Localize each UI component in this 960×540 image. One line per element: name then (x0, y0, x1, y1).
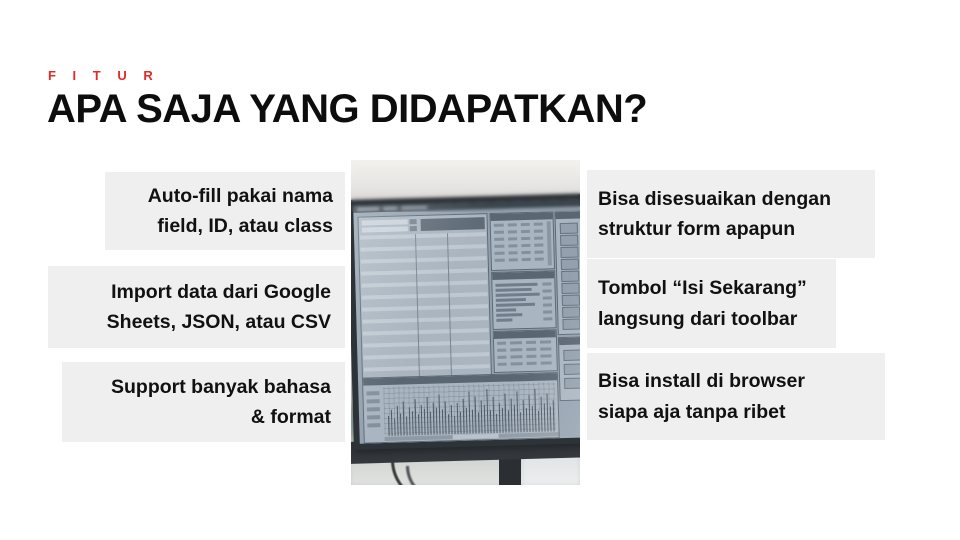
screen-quote-cell (535, 258, 544, 261)
screen-button[interactable] (561, 283, 579, 294)
screen-bar (496, 298, 526, 302)
chart-axis-label (367, 407, 380, 411)
screen-quote-cell (509, 258, 518, 261)
feature-line-1: Auto-fill pakai nama (148, 185, 333, 207)
screen-button[interactable] (560, 235, 578, 246)
feature-text: Tombol “Isi Sekarang” langsung dari tool… (598, 273, 826, 333)
screen-panel-header (490, 212, 552, 221)
screen-quote-cell (494, 238, 504, 241)
monitor-screen (353, 199, 580, 443)
chart-axis-label (367, 399, 380, 403)
screen-panel-header (559, 337, 580, 345)
feature-box-left-3: Support banyak bahasa & format (62, 362, 345, 442)
feature-photo (351, 160, 580, 485)
screen-bar (496, 313, 522, 317)
screen-bar-value (543, 289, 552, 292)
feature-line-1: Tombol “Isi Sekarang” (598, 277, 807, 299)
screen-panel-header (555, 211, 580, 219)
screen-watchlist-cell (540, 354, 551, 357)
screen-dropdown (362, 219, 408, 225)
screen-panel-mini (558, 336, 580, 401)
photo-cable-secondary (406, 466, 509, 485)
screen-quote-cell (509, 251, 518, 254)
screen-panel-header (494, 330, 556, 339)
feature-line-2: struktur form apapun (598, 218, 795, 240)
screen-menu-item (383, 207, 397, 210)
screen-dropdown (362, 226, 408, 232)
chevron-down-icon (410, 219, 417, 224)
screen-button[interactable] (561, 271, 579, 282)
screen-quote-cell (522, 258, 531, 261)
monitor-bezel (351, 193, 580, 450)
screen-quote-cell (521, 230, 530, 233)
screen-bar-value (543, 303, 552, 306)
feature-box-left-1: Auto-fill pakai nama field, ID, atau cla… (105, 172, 345, 250)
screen-watchlist-cell (510, 341, 522, 344)
feature-box-left-2: Import data dari Google Sheets, JSON, at… (48, 266, 345, 348)
screen-scrollbar[interactable] (547, 221, 552, 265)
screen-button[interactable] (562, 295, 580, 306)
screen-panel-quotes (489, 211, 555, 271)
slide-root: F I T U R APA SAJA YANG DIDAPATKAN? Auto… (0, 0, 960, 540)
screen-watchlist-cell (526, 348, 536, 351)
screen-bar (496, 308, 516, 312)
feature-line-1: Support banyak bahasa (111, 376, 331, 398)
screen-watchlist-cell (497, 349, 506, 352)
screen-quote-cell (521, 244, 530, 247)
feature-box-right-3: Bisa install di browser siapa aja tanpa … (587, 353, 885, 440)
feature-line-1: Bisa disesuaikan dengan (598, 188, 831, 210)
screen-button[interactable] (561, 259, 579, 270)
screen-quote-cell (508, 223, 517, 226)
screen-watchlist-cell (526, 355, 536, 358)
screen-bar (495, 283, 537, 287)
feature-line-2: field, ID, atau class (157, 215, 333, 237)
screen-quote-cell (494, 231, 504, 234)
screen-quote-cell (534, 251, 543, 254)
screen-quote-cell (495, 259, 505, 262)
feature-box-right-1: Bisa disesuaikan dengan struktur form ap… (587, 170, 875, 258)
screen-quote-cell (494, 224, 504, 227)
feature-line-1: Import data dari Google (111, 281, 331, 303)
screen-panel-watchlist (493, 329, 558, 373)
screen-menu-item (357, 207, 379, 211)
feature-line-2: siapa aja tanpa ribet (598, 397, 873, 427)
feature-line-1: Bisa install di browser (598, 366, 873, 396)
screen-bar (496, 288, 532, 292)
feature-text: Auto-fill pakai nama field, ID, atau cla… (119, 181, 333, 241)
chevron-down-icon (410, 226, 417, 231)
screen-watchlist-cell (510, 348, 522, 351)
screen-quote-cell (508, 230, 517, 233)
screen-watchlist-cell (540, 340, 551, 343)
eyebrow-label: F I T U R (48, 69, 159, 82)
feature-text: Bisa disesuaikan dengan struktur form ap… (598, 184, 863, 244)
screen-watchlist-cell (510, 355, 522, 358)
screen-quote-cell (521, 223, 530, 226)
screen-panel-chart (362, 372, 560, 443)
screen-quote-cell (508, 244, 517, 247)
screen-watchlist-cell (526, 341, 536, 344)
feature-line-2: langsung dari toolbar (598, 308, 797, 330)
screen-quote-cell (534, 237, 543, 240)
screen-quote-cell (521, 237, 530, 240)
screen-watchlist-cell (527, 362, 537, 365)
screen-panel-header (492, 271, 554, 280)
screen-quote-cell (495, 252, 505, 255)
page-title: APA SAJA YANG DIDAPATKAN? (47, 88, 647, 130)
screen-quote-cell (534, 244, 543, 247)
screen-button[interactable] (564, 364, 580, 375)
screen-bar-value (542, 282, 551, 285)
screen-button[interactable] (563, 350, 580, 361)
chart-axis-label (367, 423, 380, 427)
screen-watchlist-cell (511, 362, 523, 365)
screen-panel-buttons (554, 210, 580, 335)
screen-watchlist-cell (497, 356, 506, 359)
screen-watchlist-cell (498, 363, 507, 366)
screen-button[interactable] (560, 223, 578, 234)
screen-button[interactable] (562, 307, 580, 318)
screen-bar (496, 303, 535, 307)
screen-button[interactable] (562, 319, 580, 330)
screen-bar-value (543, 296, 552, 299)
screen-button[interactable] (564, 378, 580, 389)
monitor-stand-neck (499, 456, 521, 485)
feature-text: Import data dari Google Sheets, JSON, at… (62, 277, 331, 337)
screen-bar (496, 293, 540, 297)
feature-line-2: & format (251, 406, 331, 428)
chart-axis-label (366, 391, 379, 395)
feature-text: Bisa install di browser siapa aja tanpa … (598, 366, 873, 426)
screen-bar-value (543, 317, 552, 320)
screen-quote-cell (534, 230, 543, 233)
feature-text: Support banyak bahasa & format (76, 372, 331, 432)
screen-panel-barchart (491, 270, 557, 330)
chart-axis-label (367, 415, 380, 419)
screen-quote-cell (521, 251, 530, 254)
chart-scrollbar-thumb[interactable] (453, 434, 499, 439)
screen-table-header (421, 217, 485, 231)
screen-quote-cell (534, 223, 543, 226)
screen-quote-cell (508, 237, 517, 240)
screen-button[interactable] (560, 247, 578, 258)
feature-box-right-2: Tombol “Isi Sekarang” langsung dari tool… (587, 259, 836, 348)
screen-watchlist-cell (541, 361, 552, 364)
screen-watchlist-cell (497, 342, 506, 345)
screen-bar (496, 318, 512, 321)
screen-bar-value (543, 310, 552, 313)
screen-quote-cell (494, 245, 504, 248)
screen-watchlist-cell (540, 347, 551, 350)
feature-line-2: Sheets, JSON, atau CSV (107, 311, 331, 333)
